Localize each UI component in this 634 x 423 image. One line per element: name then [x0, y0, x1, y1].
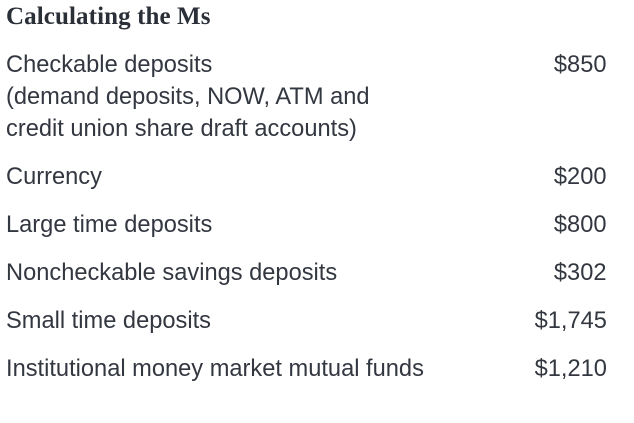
row-value: $200: [541, 161, 607, 193]
row-value: $1,745: [521, 305, 607, 337]
table-row: Currency $200: [6, 161, 607, 193]
row-label: Noncheckable savings deposits: [6, 257, 337, 289]
row-label: Checkable deposits (demand deposits, NOW…: [6, 49, 370, 145]
page-title: Calculating the Ms: [6, 0, 607, 32]
table-row: Checkable deposits (demand deposits, NOW…: [6, 49, 607, 145]
table-row: Noncheckable savings deposits $302: [6, 257, 607, 289]
row-value: $302: [541, 257, 607, 289]
row-label: Currency: [6, 161, 102, 193]
row-value: $800: [541, 209, 607, 241]
row-value: $850: [541, 49, 607, 81]
table-row: Institutional money market mutual funds …: [6, 353, 607, 385]
row-label: Institutional money market mutual funds: [6, 353, 424, 385]
row-value: $1,210: [521, 353, 607, 385]
row-label: Small time deposits: [6, 305, 211, 337]
document-page: Calculating the Ms Checkable deposits (d…: [0, 0, 634, 423]
table-row: Large time deposits $800: [6, 209, 607, 241]
row-label: Large time deposits: [6, 209, 212, 241]
table-row: Small time deposits $1,745: [6, 305, 607, 337]
ms-components-table: Checkable deposits (demand deposits, NOW…: [6, 49, 607, 385]
